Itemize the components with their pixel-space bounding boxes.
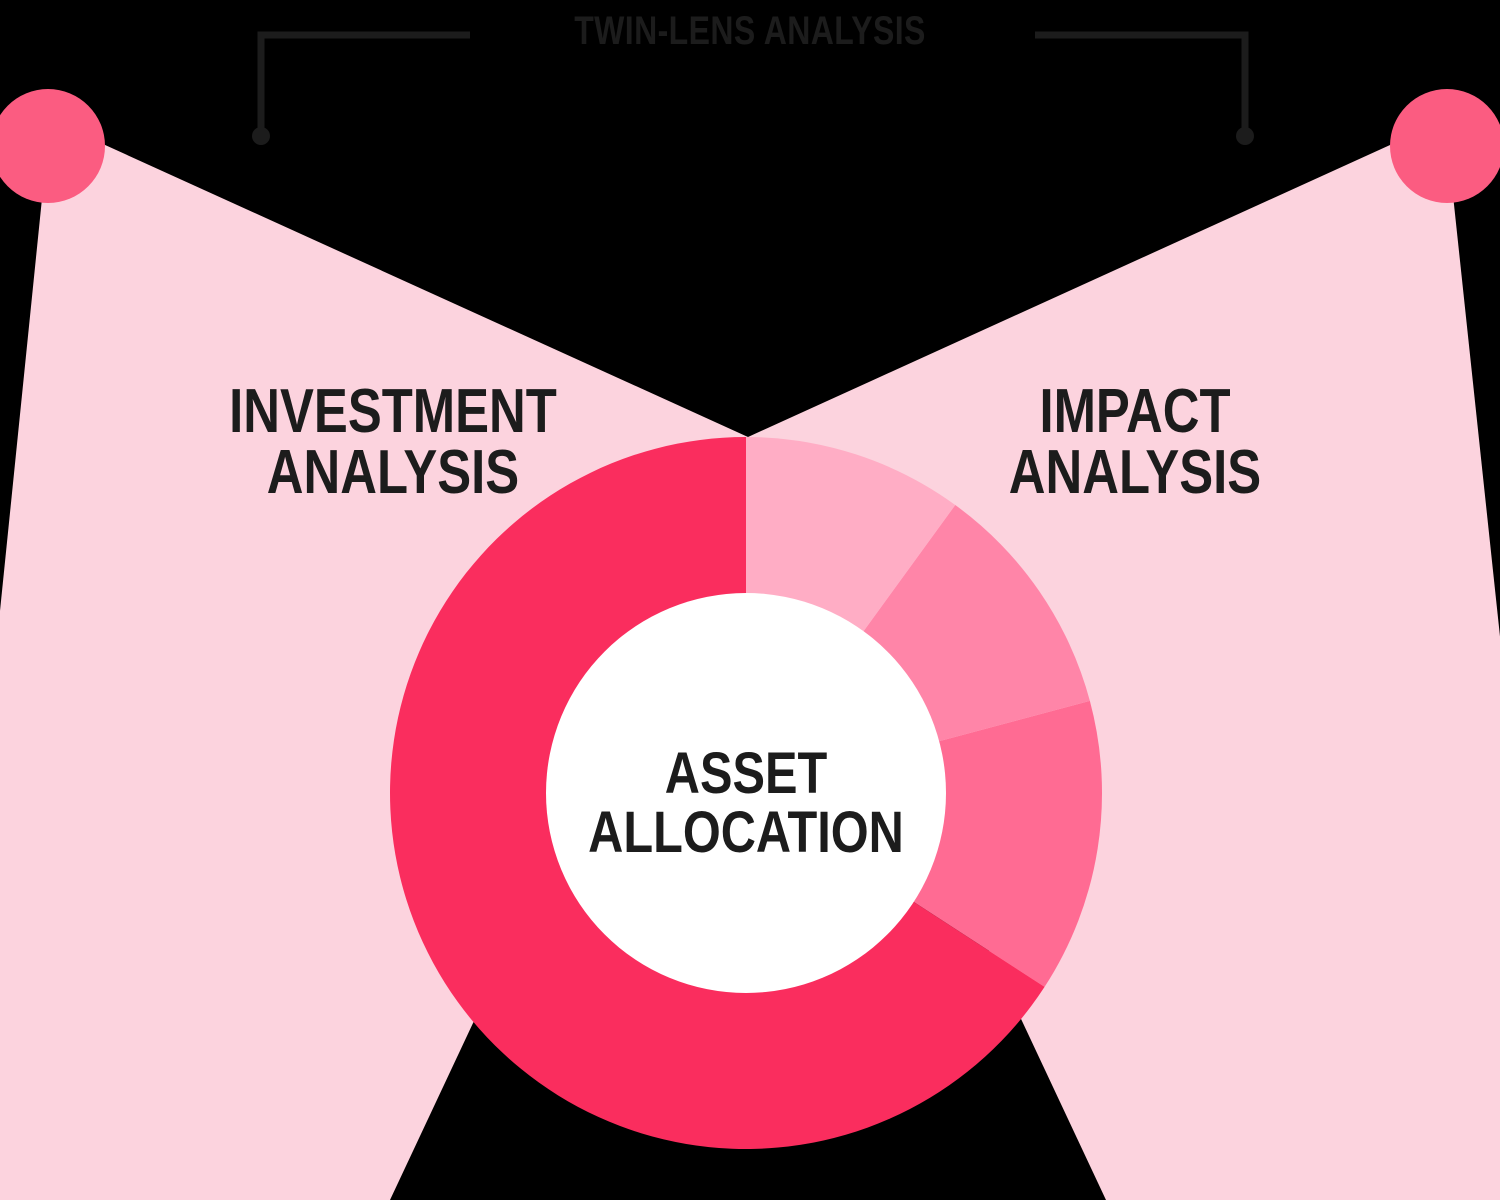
hub-label: ASSET ALLOCATION xyxy=(578,744,914,862)
hub-label-line1: ASSET xyxy=(665,741,827,806)
bracket-left-dot-icon xyxy=(252,127,270,145)
lens-label-impact: IMPACT ANALYSIS xyxy=(959,382,1312,504)
lens-label-investment: INVESTMENT ANALYSIS xyxy=(217,382,570,504)
lens-label-impact-line2: ANALYSIS xyxy=(959,443,1312,504)
lamp-right-icon xyxy=(1390,89,1500,203)
lens-label-impact-line1: IMPACT xyxy=(1039,377,1230,446)
diagram-canvas: TWIN-LENS ANALYSIS INVESTMENT ANALYSIS I… xyxy=(0,0,1500,1200)
lens-label-investment-line2: ANALYSIS xyxy=(217,443,570,504)
lens-label-investment-line1: INVESTMENT xyxy=(229,377,557,446)
hub-label-line2: ALLOCATION xyxy=(578,803,914,862)
twin-lens-graphic xyxy=(0,0,1500,1200)
page-title: TWIN-LENS ANALYSIS xyxy=(150,10,1350,52)
bracket-right-dot-icon xyxy=(1236,127,1254,145)
